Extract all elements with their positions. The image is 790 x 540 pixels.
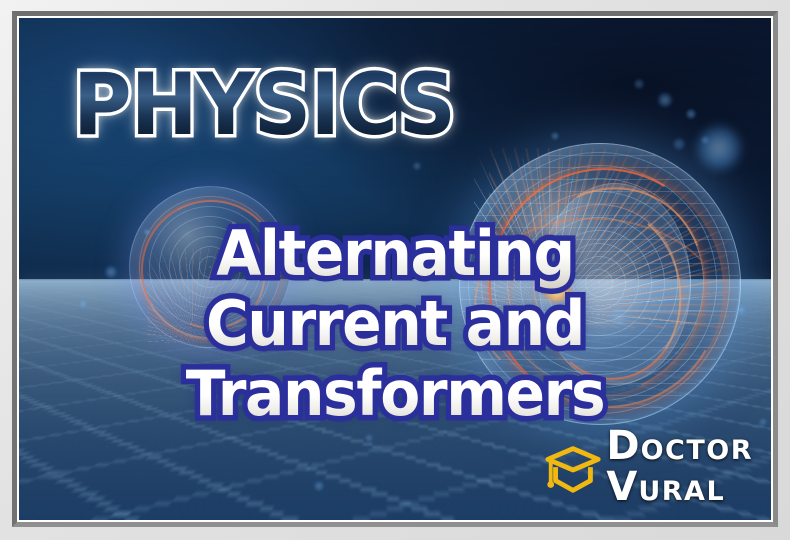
graduation-cap-icon — [542, 438, 604, 500]
subtitle-line-fill: Transformers — [186, 357, 605, 430]
brand-logo-text: D OCTOR V URAL — [606, 429, 753, 509]
brand-line-1-capital: D — [606, 429, 640, 463]
brand-line-2: V URAL — [606, 470, 753, 509]
brand-logo[interactable]: D OCTOR V URAL — [542, 432, 753, 506]
poster-frame: PHYSICS PHYSICS Alternating Alternating … — [0, 0, 790, 540]
subtitle-line: Transformers Transformers — [42, 363, 749, 425]
brand-line-1-rest: OCTOR — [641, 434, 753, 468]
brand-line-2-rest: URAL — [638, 475, 725, 509]
subtitle-line-fill: Current and — [206, 287, 584, 360]
page-title-fill: PHYSICS — [73, 58, 455, 152]
brand-line-2-capital: V — [606, 470, 638, 504]
poster-frame-inner: PHYSICS PHYSICS Alternating Alternating … — [12, 11, 778, 527]
subtitle-line: Alternating Alternating — [42, 223, 749, 285]
brand-line-1: D OCTOR — [606, 429, 753, 468]
poster-image: PHYSICS PHYSICS Alternating Alternating … — [19, 18, 771, 520]
subtitle-line: Current and Current and — [42, 293, 749, 355]
page-title: PHYSICS PHYSICS — [73, 58, 484, 152]
poster-subtitle: Alternating Alternating Current and Curr… — [42, 223, 749, 425]
subtitle-line-fill: Alternating — [216, 217, 574, 290]
